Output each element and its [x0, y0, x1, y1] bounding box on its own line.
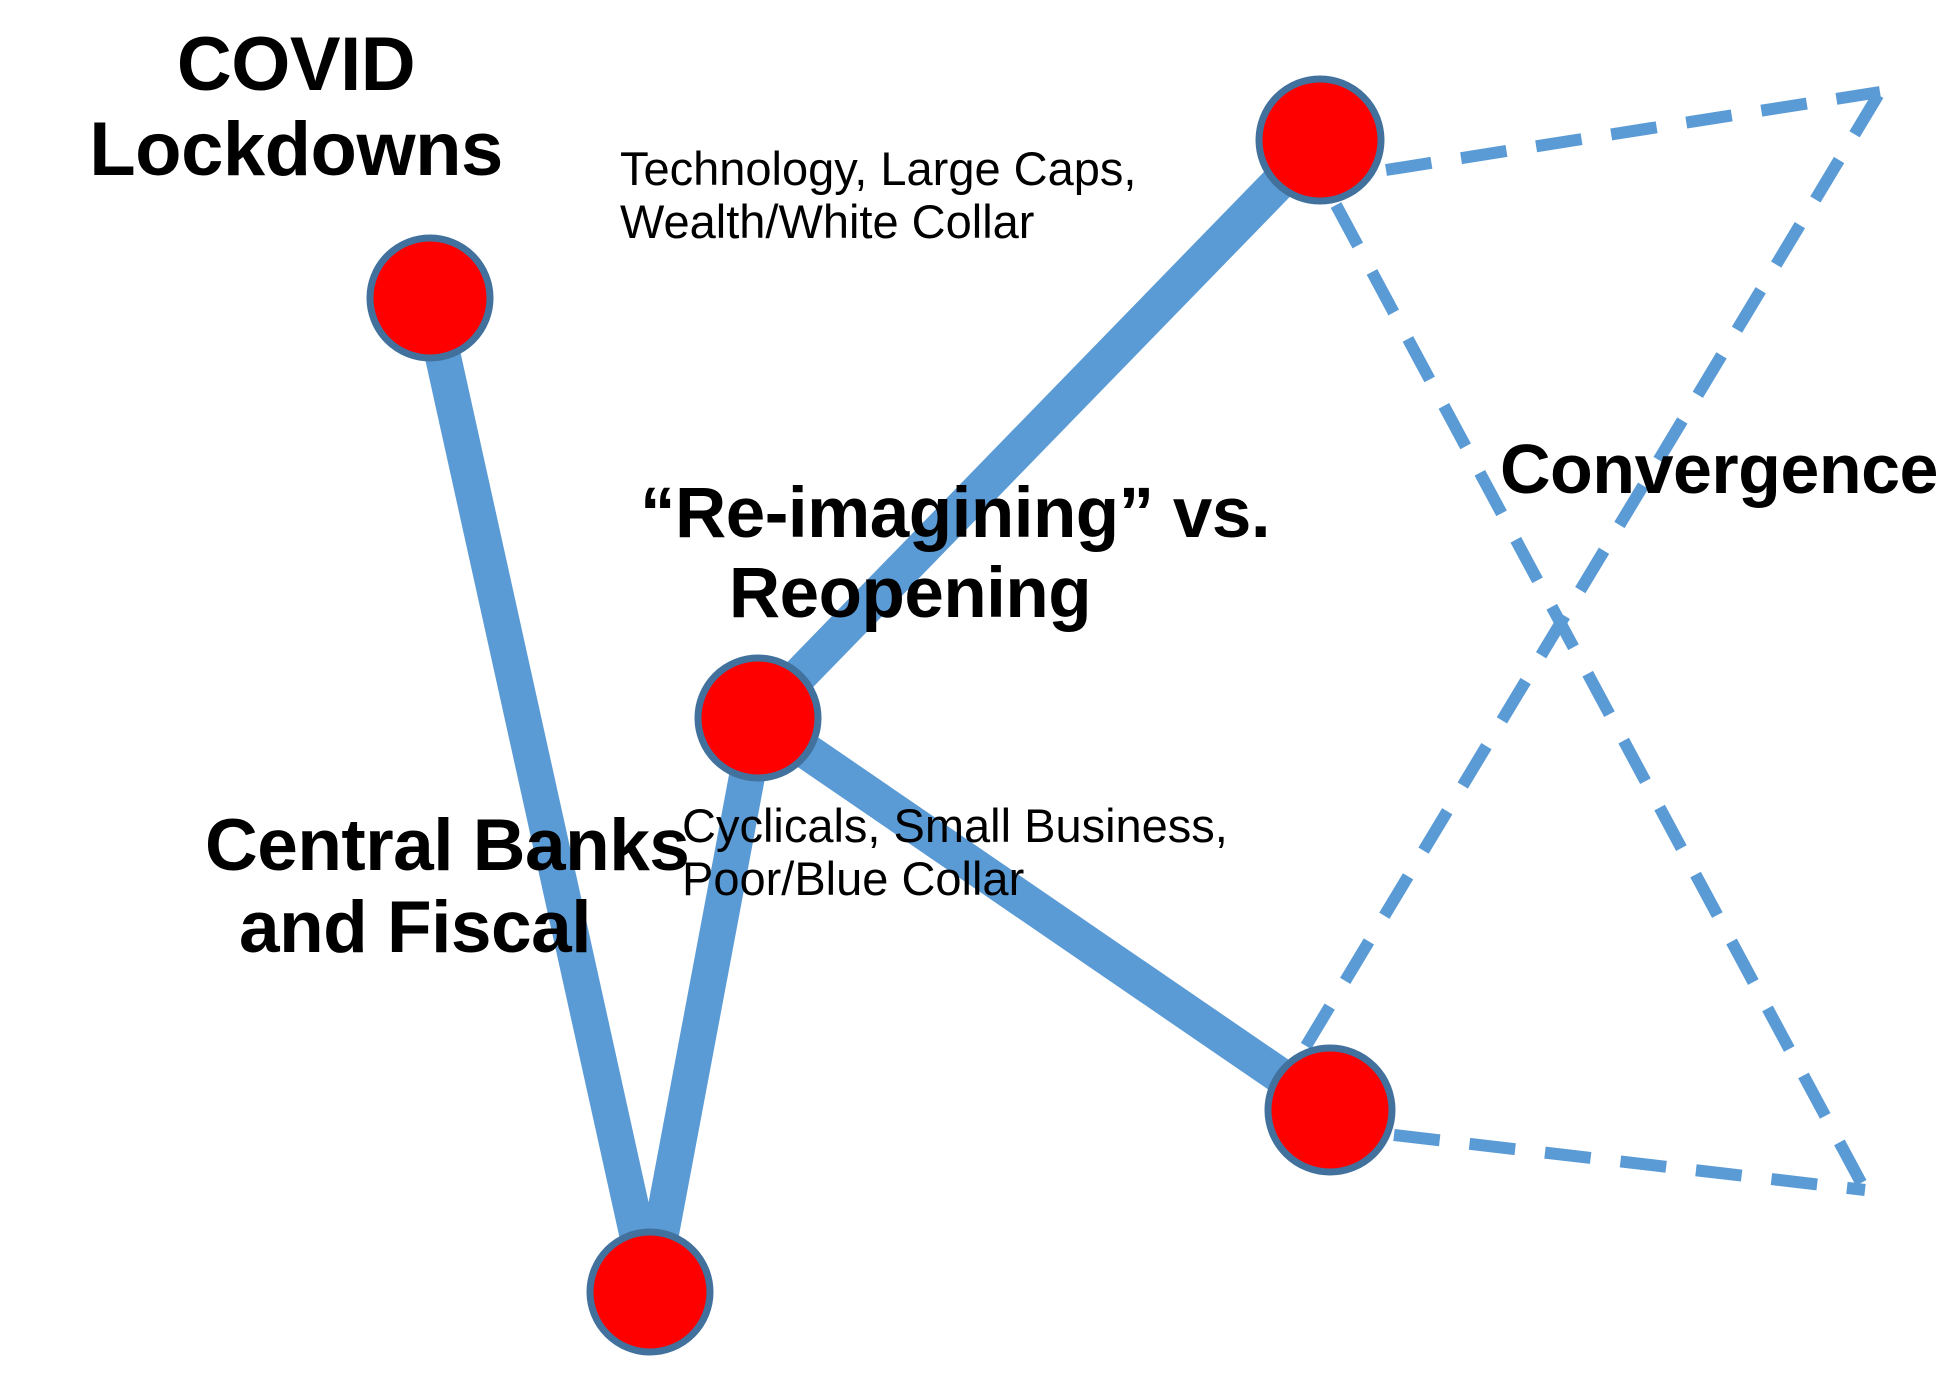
node-reimagining[interactable] — [698, 658, 818, 778]
dashed-edge-technology-to-bottom-right-vertex — [1336, 205, 1865, 1190]
dashed-edge-cyclicals-to-bottom-right-vertex — [1394, 1135, 1865, 1190]
label-central-banks-and-fiscal: Central Banks and Fiscal — [205, 805, 625, 969]
label-covid-lockdowns: COVID Lockdowns — [86, 22, 506, 192]
label-reimagining-vs-reopening: “Re-imagining” vs. Reopening — [640, 474, 1180, 633]
edge-reimagining-to-cyclicals — [758, 718, 1330, 1110]
node-cyclicals[interactable] — [1268, 1048, 1392, 1172]
label-cyclicals-small-business: Cyclicals, Small Business, Poor/Blue Col… — [682, 800, 1202, 905]
dashed-edge-group — [1306, 92, 1880, 1190]
label-convergence: Convergence — [1500, 430, 1958, 508]
node-technology-large-caps[interactable] — [1259, 79, 1381, 201]
node-covid-lockdowns[interactable] — [370, 238, 490, 358]
diagram-canvas: COVID Lockdowns Technology, Large Caps, … — [0, 0, 1958, 1384]
edge-covid-to-central-banks — [430, 298, 650, 1292]
label-technology-large-caps: Technology, Large Caps, Wealth/White Col… — [620, 143, 1140, 248]
node-central-banks[interactable] — [590, 1232, 710, 1352]
solid-edge-group — [430, 140, 1330, 1292]
dashed-edge-cyclicals-to-top-right-vertex — [1306, 92, 1880, 1046]
dashed-edge-technology-to-top-right-vertex — [1386, 92, 1880, 170]
